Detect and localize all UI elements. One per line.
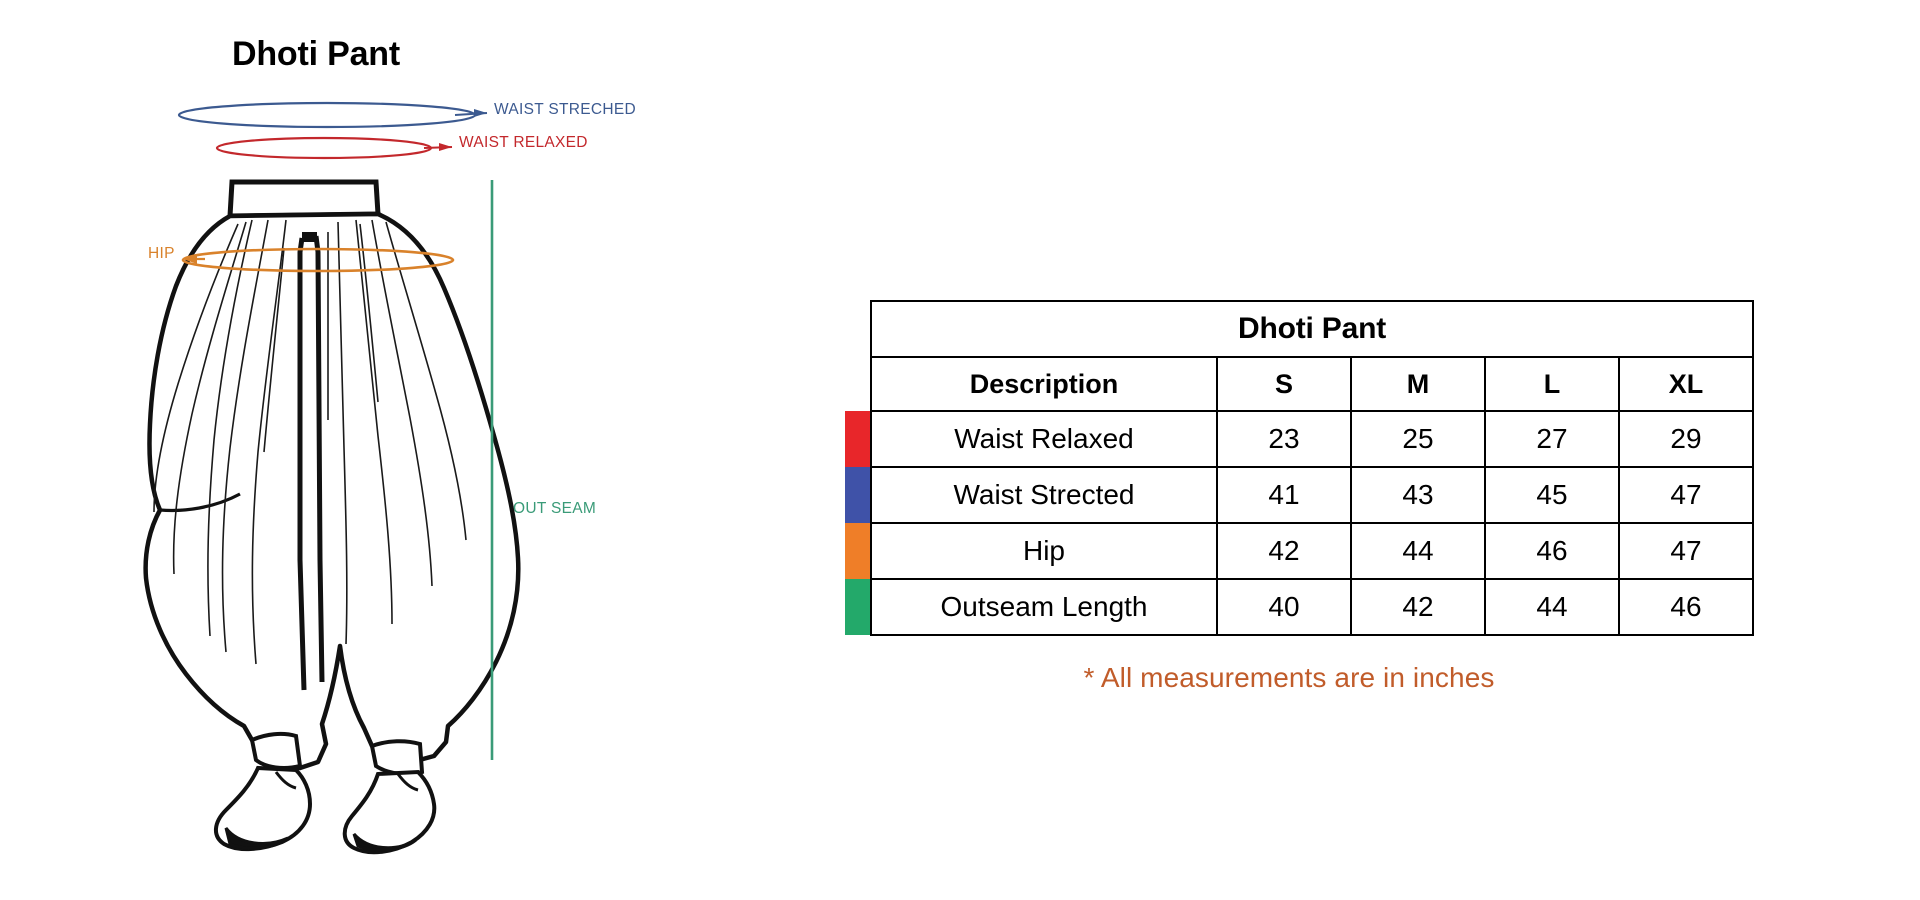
waist-stretched-ellipse [179,103,487,127]
table-row: Waist Relaxed 23 25 27 29 [845,411,1753,467]
cell-outseam-length-m: 42 [1351,579,1485,635]
table-title-row: Dhoti Pant [845,301,1753,357]
pant-outline [146,182,519,852]
swatch-green [845,579,871,635]
cell-waist-relaxed-m: 25 [1351,411,1485,467]
cell-waist-relaxed-l: 27 [1485,411,1619,467]
cell-hip-s: 42 [1217,523,1351,579]
swatch-orange [845,523,871,579]
swatch-spacer [845,301,871,357]
column-header-s: S [1217,357,1351,411]
cell-waist-strected-s: 41 [1217,467,1351,523]
column-header-m: M [1351,357,1485,411]
measurement-units-note: * All measurements are in inches [845,662,1733,694]
column-header-xl: XL [1619,357,1753,411]
swatch-spacer [845,357,871,411]
column-header-l: L [1485,357,1619,411]
cell-outseam-length-s: 40 [1217,579,1351,635]
row-label-outseam-length: Outseam Length [871,579,1217,635]
callout-label-out-seam: OUT SEAM [513,500,596,518]
column-header-description: Description [871,357,1217,411]
cell-waist-relaxed-s: 23 [1217,411,1351,467]
table-row: Outseam Length 40 42 44 46 [845,579,1753,635]
cell-waist-strected-l: 45 [1485,467,1619,523]
size-chart-panel: Dhoti Pant Description S M L XL Waist Re… [845,300,1745,694]
table-row: Waist Strected 41 43 45 47 [845,467,1753,523]
cell-hip-l: 46 [1485,523,1619,579]
row-label-waist-strected: Waist Strected [871,467,1217,523]
callout-label-waist-stretched: WAIST STRECHED [494,101,636,119]
dhoti-pant-illustration [0,0,720,900]
cell-outseam-length-xl: 46 [1619,579,1753,635]
table-title: Dhoti Pant [871,301,1753,357]
table-header-row: Description S M L XL [845,357,1753,411]
row-label-hip: Hip [871,523,1217,579]
cell-hip-m: 44 [1351,523,1485,579]
row-color-swatch-waist-relaxed [845,411,871,467]
callout-label-waist-relaxed: WAIST RELAXED [459,134,588,152]
callout-label-hip: HIP [148,245,175,263]
row-label-waist-relaxed: Waist Relaxed [871,411,1217,467]
table-row: Hip 42 44 46 47 [845,523,1753,579]
cell-waist-strected-m: 43 [1351,467,1485,523]
row-color-swatch-hip [845,523,871,579]
row-color-swatch-outseam-length [845,579,871,635]
size-chart-table: Dhoti Pant Description S M L XL Waist Re… [845,300,1754,636]
cell-hip-xl: 47 [1619,523,1753,579]
waist-relaxed-ellipse [217,138,452,158]
cell-outseam-length-l: 44 [1485,579,1619,635]
cell-waist-relaxed-xl: 29 [1619,411,1753,467]
swatch-red [845,411,871,467]
cell-waist-strected-xl: 47 [1619,467,1753,523]
swatch-blue [845,467,871,523]
row-color-swatch-waist-strected [845,467,871,523]
illustration-panel: Dhoti Pant [0,0,720,900]
